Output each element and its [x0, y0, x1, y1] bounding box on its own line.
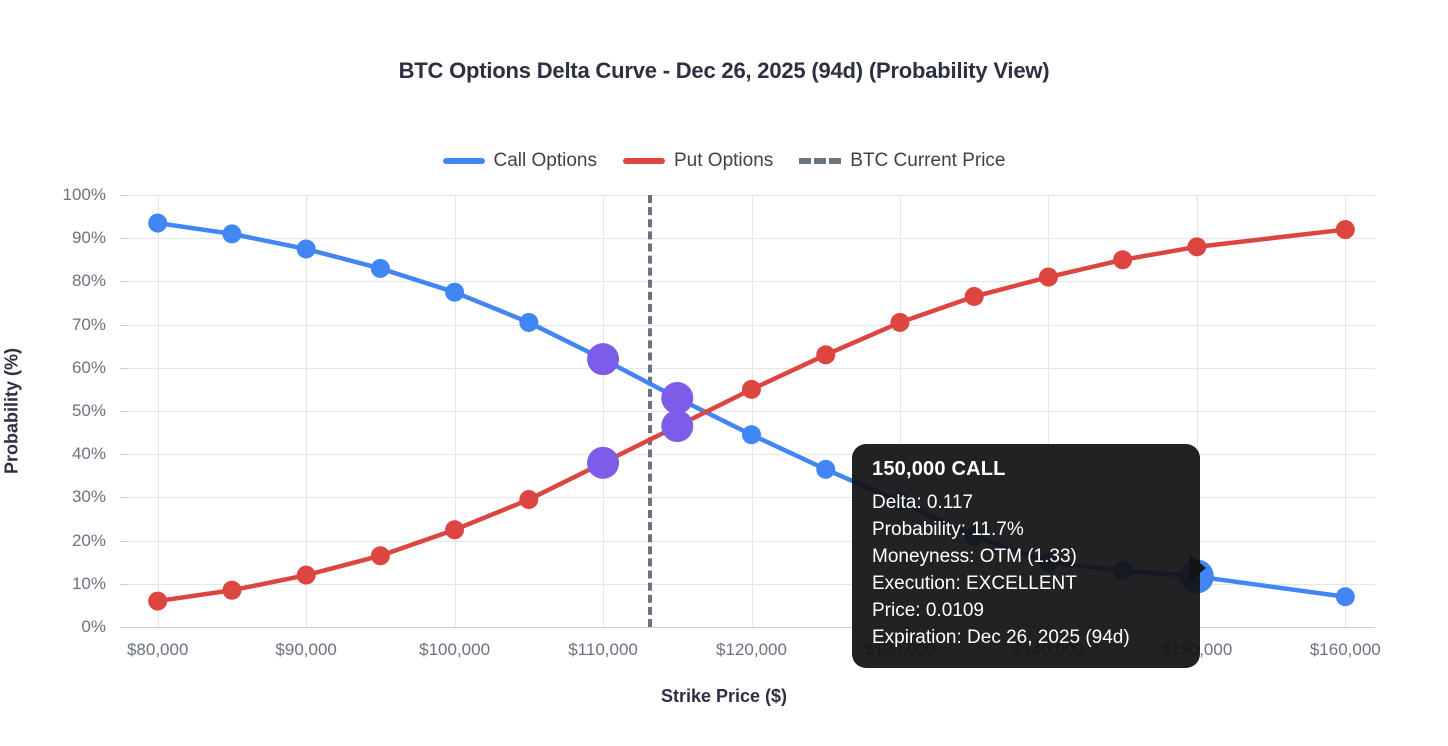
y-axis-tick-label: 20%	[72, 531, 106, 551]
legend-item-btc-current-price[interactable]: BTC Current Price	[799, 150, 1005, 172]
data-point[interactable]	[148, 214, 167, 233]
chart-title: BTC Options Delta Curve - Dec 26, 2025 (…	[0, 58, 1448, 84]
legend-item-put-options[interactable]: Put Options	[623, 150, 773, 172]
legend-swatch-call-options	[443, 158, 485, 164]
data-point[interactable]	[222, 224, 241, 243]
chart-legend: Call Options Put Options BTC Current Pri…	[0, 150, 1448, 172]
y-axis-tick-mark	[120, 541, 128, 542]
x-axis-tick-label: $80,000	[127, 640, 188, 660]
legend-swatch-put-options	[623, 158, 665, 164]
y-axis-tick-label: 40%	[72, 444, 106, 464]
x-axis-title: Strike Price ($)	[0, 686, 1448, 707]
data-point[interactable]	[1336, 587, 1355, 606]
tooltip-row-price: Price: 0.0109	[872, 598, 1180, 625]
data-point[interactable]	[445, 520, 464, 539]
data-point-highlighted[interactable]	[587, 447, 619, 479]
y-axis-tick-mark	[120, 281, 128, 282]
options-delta-chart: BTC Options Delta Curve - Dec 26, 2025 (…	[0, 0, 1448, 746]
legend-label-btc-current-price: BTC Current Price	[850, 150, 1005, 172]
tooltip-row-delta: Delta: 0.117	[872, 490, 1180, 517]
legend-swatch-btc-current-price	[799, 158, 841, 164]
data-point-highlighted[interactable]	[661, 382, 693, 414]
datapoint-tooltip: 150,000 CALL Delta: 0.117 Probability: 1…	[852, 444, 1200, 668]
data-point[interactable]	[445, 283, 464, 302]
data-point[interactable]	[816, 345, 835, 364]
x-axis-tick-label: $120,000	[716, 640, 787, 660]
y-axis-tick-label: 0%	[81, 617, 106, 637]
legend-label-call-options: Call Options	[494, 150, 598, 172]
data-point[interactable]	[1113, 250, 1132, 269]
tooltip-title: 150,000 CALL	[872, 458, 1180, 481]
y-axis-tick-labels: 0%10%20%30%40%50%60%70%80%90%100%	[0, 195, 120, 627]
y-axis-tick-label: 90%	[72, 228, 106, 248]
data-point[interactable]	[1187, 237, 1206, 256]
y-axis-tick-label: 30%	[72, 487, 106, 507]
y-axis-tick-mark	[120, 411, 128, 412]
x-axis-tick-label: $110,000	[568, 640, 638, 660]
x-axis-tick-label: $160,000	[1310, 640, 1381, 660]
data-point[interactable]	[519, 313, 538, 332]
tooltip-row-probability: Probability: 11.7%	[872, 517, 1180, 544]
data-point-highlighted[interactable]	[661, 410, 693, 442]
y-axis-tick-label: 10%	[72, 574, 106, 594]
y-axis-tick-label: 70%	[72, 315, 106, 335]
data-point[interactable]	[371, 259, 390, 278]
data-point[interactable]	[965, 287, 984, 306]
y-axis-tick-mark	[120, 238, 128, 239]
data-point[interactable]	[297, 240, 316, 259]
y-axis-tick-label: 100%	[63, 185, 106, 205]
data-point[interactable]	[890, 313, 909, 332]
y-axis-tick-mark	[120, 497, 128, 498]
y-axis-tick-mark	[120, 325, 128, 326]
tooltip-arrow-icon	[1190, 555, 1206, 581]
y-axis-tick-mark	[120, 627, 128, 628]
y-axis-tick-mark	[120, 584, 128, 585]
y-axis-tick-mark	[120, 195, 128, 196]
data-point-highlighted[interactable]	[587, 343, 619, 375]
y-axis-tick-label: 50%	[72, 401, 106, 421]
y-axis-tick-label: 80%	[72, 271, 106, 291]
x-axis-tick-label: $90,000	[275, 640, 336, 660]
y-axis-tick-label: 60%	[72, 358, 106, 378]
data-point[interactable]	[148, 592, 167, 611]
data-point[interactable]	[371, 546, 390, 565]
tooltip-row-execution: Execution: EXCELLENT	[872, 571, 1180, 598]
legend-label-put-options: Put Options	[674, 150, 773, 172]
tooltip-row-moneyness: Moneyness: OTM (1.33)	[872, 544, 1180, 571]
data-point[interactable]	[519, 490, 538, 509]
x-axis-tick-label: $100,000	[419, 640, 490, 660]
data-point[interactable]	[222, 581, 241, 600]
legend-item-call-options[interactable]: Call Options	[443, 150, 598, 172]
y-axis-tick-mark	[120, 454, 128, 455]
tooltip-row-expiration: Expiration: Dec 26, 2025 (94d)	[872, 625, 1180, 652]
data-point[interactable]	[297, 566, 316, 585]
data-point[interactable]	[742, 425, 761, 444]
data-point[interactable]	[1336, 220, 1355, 239]
y-axis-tick-mark	[120, 368, 128, 369]
data-point[interactable]	[742, 380, 761, 399]
data-point[interactable]	[1039, 268, 1058, 287]
data-point[interactable]	[816, 460, 835, 479]
x-axis-tick-labels: $80,000$90,000$100,000$110,000$120,000$1…	[0, 640, 1448, 666]
